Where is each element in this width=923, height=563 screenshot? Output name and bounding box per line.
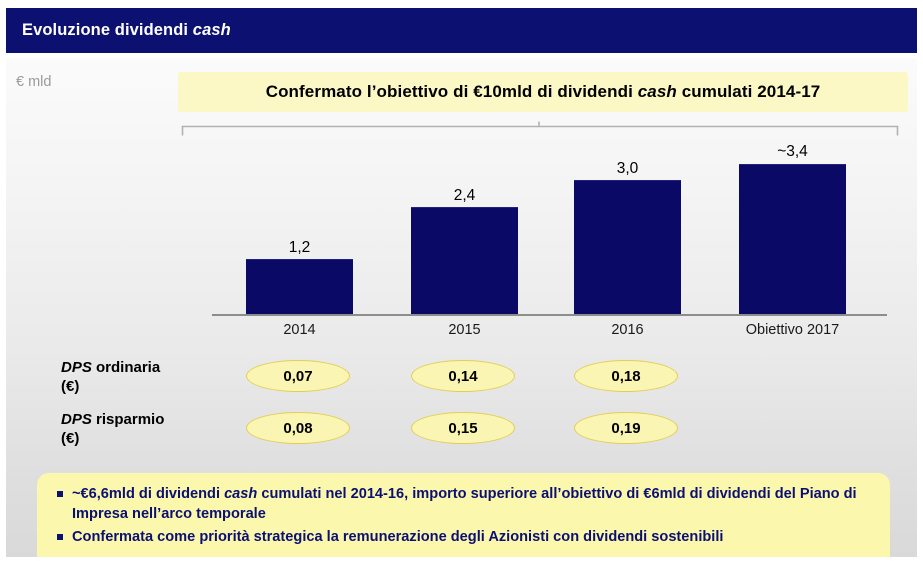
bar-2015	[411, 207, 518, 314]
list-item: ~€6,6mld di dividendi cash cumulati nel …	[53, 484, 874, 524]
dps-risparmio-2014-value: 0,08	[283, 420, 312, 437]
dps-row-ordinaria: DPS ordinaria (€) 0,07 0,14 0,18	[6, 355, 917, 401]
key-takeaways-callout: ~€6,6mld di dividendi cash cumulati nel …	[37, 473, 890, 557]
footnote-text-2: Confermata come priorità strategica la r…	[72, 527, 874, 547]
bar-2016	[574, 180, 681, 314]
bar-value-2015: 2,4	[411, 187, 518, 205]
bar-value-2016: 3,0	[574, 160, 681, 178]
footnote-1-emphasis: cash	[224, 486, 257, 502]
chart-baseline-axis	[212, 314, 887, 316]
footnote-2-part1: Confermata come priorità strategica la r…	[72, 529, 723, 545]
footnote-1-part1: ~€6,6mld di dividendi	[72, 486, 224, 502]
list-item: Confermata come priorità strategica la r…	[53, 527, 874, 547]
category-label-2015: 2015	[411, 322, 518, 338]
square-bullet-icon	[57, 491, 63, 497]
page-title: Evoluzione dividendi cash	[6, 21, 231, 40]
slide-body: € mld Confermato l’obiettivo di €10mld d…	[6, 58, 917, 557]
dps-ordinaria-emphasis: DPS	[61, 359, 92, 376]
category-label-2014: 2014	[246, 322, 353, 338]
bar-2014	[246, 259, 353, 314]
headline-emphasis: cash	[638, 82, 677, 101]
headline-part1: Confermato l’obiettivo di €10mld di divi…	[266, 82, 638, 101]
dps-ordinaria-2015-value: 0,14	[448, 368, 477, 385]
category-label-obiettivo-2017: Obiettivo 2017	[725, 322, 860, 338]
square-bullet-icon	[57, 534, 63, 540]
dps-ordinaria-2016-pill: 0,18	[574, 360, 678, 392]
category-label-2016: 2016	[574, 322, 681, 338]
dps-row-ordinaria-label: DPS ordinaria (€)	[61, 358, 261, 396]
page-title-emphasis: cash	[193, 21, 231, 39]
slide-title-band: Evoluzione dividendi cash	[6, 8, 917, 53]
dps-ordinaria-2014-value: 0,07	[283, 368, 312, 385]
footnote-text-1: ~€6,6mld di dividendi cash cumulati nel …	[72, 484, 874, 524]
chart-unit-label: € mld	[16, 74, 51, 90]
bar-value-2014: 1,2	[246, 239, 353, 257]
page-title-prefix: Evoluzione dividendi	[22, 21, 193, 39]
bar-obiettivo-2017	[739, 164, 846, 314]
dps-risparmio-2014-pill: 0,08	[246, 412, 350, 444]
dps-ordinaria-2015-pill: 0,14	[411, 360, 515, 392]
dps-risparmio-2015-pill: 0,15	[411, 412, 515, 444]
dps-row-risparmio-label: DPS risparmio (€)	[61, 410, 261, 448]
bar-value-obiettivo-2017: ~3,4	[739, 143, 846, 161]
dps-row-risparmio: DPS risparmio (€) 0,08 0,15 0,19	[6, 407, 917, 453]
dps-risparmio-2016-value: 0,19	[611, 420, 640, 437]
headline-part2: cumulati 2014-17	[677, 82, 820, 101]
dps-risparmio-emphasis: DPS	[61, 411, 92, 428]
slide-root: Evoluzione dividendi cash € mld Conferma…	[0, 0, 923, 563]
dps-risparmio-2015-value: 0,15	[448, 420, 477, 437]
headline-text: Confermato l’obiettivo di €10mld di divi…	[266, 82, 821, 102]
dps-ordinaria-2014-pill: 0,07	[246, 360, 350, 392]
dividends-bar-chart: 1,2 2014 2,4 2015 3,0 2016 ~3,4 Obiettiv…	[6, 116, 917, 331]
dps-ordinaria-2016-value: 0,18	[611, 368, 640, 385]
headline-banner: Confermato l’obiettivo di €10mld di divi…	[178, 72, 908, 112]
dps-risparmio-2016-pill: 0,19	[574, 412, 678, 444]
